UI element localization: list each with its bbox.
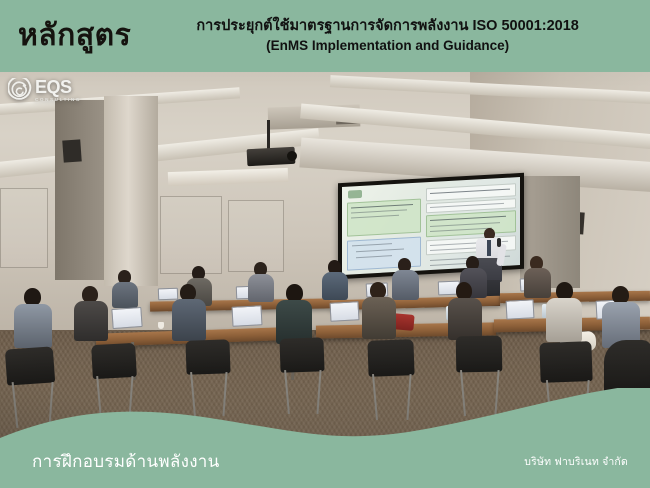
microphone [497,238,501,247]
course-label: หลักสูตร [0,21,131,51]
attendee-torso [112,282,138,308]
eqs-logo: EQS CONSULTING [8,78,81,103]
footer-text-row: การฝึกอบรมด้านพลังงาน บริษัท ฟาบริเนท จำ… [0,440,650,488]
eqs-brand-name: EQS [35,77,72,97]
wall-column [55,100,105,280]
laptop [506,299,535,319]
laptop [231,305,262,327]
banquet-chair [5,346,55,385]
banquet-chair [456,336,503,373]
wall-panel [160,196,222,274]
paper-cup [158,322,164,329]
laptop [158,288,178,301]
wall-speaker [62,139,81,162]
projector-mount-rod [267,120,270,150]
presenter-tie [487,240,491,256]
wall-column [104,96,158,286]
attendee-torso [362,297,396,339]
attendee-torso [546,298,582,342]
attendee-torso [322,272,348,300]
course-title-line1: การประยุกต์ใช้มาตรฐานการจัดการพลังงาน IS… [135,17,640,37]
wall-panel [228,200,284,272]
slide-logo [348,190,362,199]
attendee-torso [392,270,419,300]
laptop [330,301,360,321]
course-title-line2: (EnMS Implementation and Guidance) [135,37,640,55]
attendee-torso [448,298,482,340]
attendee-torso [524,268,551,298]
course-title: การประยุกต์ใช้มาตรฐานการจัดการพลังงาน IS… [131,17,650,55]
attendee-torso [74,301,108,341]
banquet-chair [185,339,230,375]
training-course-slide: หลักสูตร การประยุกต์ใช้มาตรฐานการจัดการพ… [0,0,650,488]
attendee-torso [14,304,52,348]
wall-panel [0,188,48,268]
footer-right-label: บริษัท ฟาบริเนท จำกัด [524,453,628,470]
eqs-swirl-icon [8,78,32,102]
attendee-torso [172,299,206,341]
banquet-chair [539,341,592,383]
banquet-chair [367,339,414,377]
footer-left-label: การฝึกอบรมด้านพลังงาน [32,448,220,475]
attendee-torso [248,274,274,302]
eqs-tagline: CONSULTING [35,98,81,103]
banquet-chair [279,337,324,373]
eqs-logo-text: EQS CONSULTING [35,78,81,103]
laptop [111,307,142,329]
header-band: หลักสูตร การประยุกต์ใช้มาตรฐานการจัดการพ… [0,0,650,72]
banquet-chair [91,343,137,379]
